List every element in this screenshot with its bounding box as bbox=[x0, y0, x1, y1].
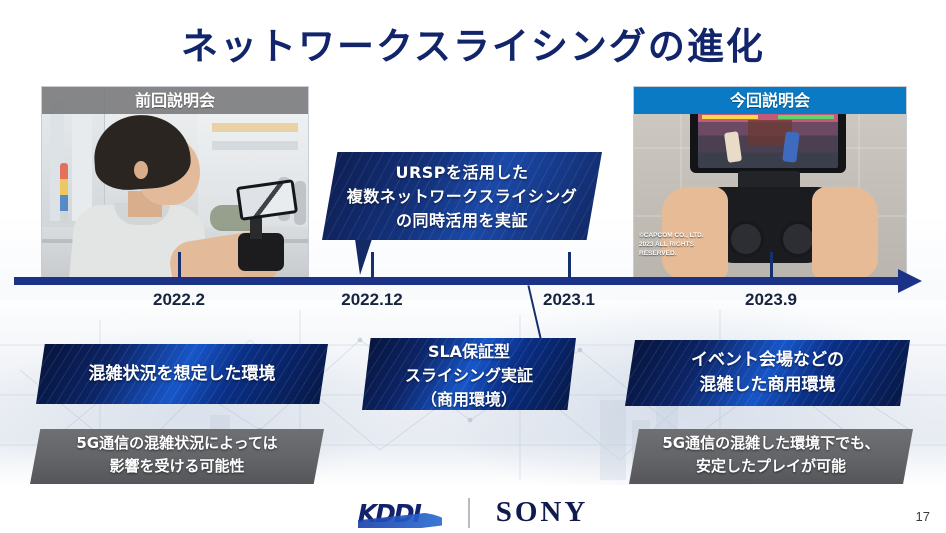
blue-banner-1-line-1: 混雑状況を想定した環境 bbox=[36, 344, 328, 404]
blue-banner-2-line-3: （商用環境） bbox=[362, 388, 576, 412]
slide-canvas: ネットワークスライシングの進化 前回説明会 bbox=[0, 0, 946, 533]
fighter-character-1 bbox=[724, 131, 742, 163]
gray-banner-result-note: 5G通信の混雑した環境下でも、 安定したプレイが可能 bbox=[629, 429, 913, 484]
callout-ursp-demo: URSPを活用した 複数ネットワークスライシング の同時活用を実証 bbox=[322, 152, 602, 240]
timeline-label-0: 2022.2 bbox=[153, 290, 205, 310]
timeline-label-1: 2022.12 bbox=[341, 290, 402, 310]
photo-right-caption: 今回説明会 bbox=[634, 87, 906, 114]
gray-banner-risk-note: 5G通信の混雑状況によっては 影響を受ける可能性 bbox=[30, 429, 324, 484]
timeline-tick bbox=[371, 252, 374, 278]
timeline-tick bbox=[568, 252, 571, 278]
health-bar-p2 bbox=[778, 115, 834, 119]
page-title: ネットワークスライシングの進化 bbox=[0, 16, 946, 70]
blue-banner-congestion-assumed: 混雑状況を想定した環境 bbox=[36, 344, 328, 404]
analog-stick-left bbox=[728, 221, 764, 257]
timeline-tick bbox=[178, 252, 181, 278]
callout-line-3: の同時活用を実証 bbox=[322, 209, 602, 233]
blue-banner-2-line-2: スライシング実証 bbox=[362, 364, 576, 388]
gray-banner-2-line-1: 5G通信の混雑した環境下でも、 bbox=[629, 432, 913, 455]
photo-previous-briefing: 前回説明会 bbox=[41, 86, 309, 284]
footer-logos: KDDI SONY bbox=[0, 496, 946, 529]
game-screen bbox=[698, 112, 838, 168]
hand-right bbox=[812, 187, 878, 279]
analog-stick-right bbox=[780, 221, 816, 257]
logo-divider bbox=[468, 498, 470, 528]
blue-banner-2-text: SLA保証型 スライシング実証 （商用環境） bbox=[362, 338, 576, 412]
timeline-arrow-icon bbox=[898, 269, 922, 293]
gray-banner-1-line-2: 影響を受ける可能性 bbox=[30, 455, 324, 478]
callout-text: URSPを活用した 複数ネットワークスライシング の同時活用を実証 bbox=[322, 152, 602, 233]
sony-logo-text: SONY bbox=[496, 496, 589, 529]
blue-banner-2-line-1: SLA保証型 bbox=[362, 340, 576, 364]
blue-banner-sla-validation: SLA保証型 スライシング実証 （商用環境） bbox=[362, 338, 576, 410]
fighter-character-2 bbox=[782, 131, 800, 162]
callout-pointer-tail bbox=[355, 239, 372, 275]
photo-left-caption: 前回説明会 bbox=[42, 87, 308, 114]
timeline-label-2: 2023.1 bbox=[543, 290, 595, 310]
timeline-label-3: 2023.9 bbox=[745, 290, 797, 310]
page-number: 17 bbox=[916, 509, 930, 524]
copyright-notice: ©CAPCOM CO., LTD. 2023 ALL RIGHTS RESERV… bbox=[639, 231, 704, 258]
blue-banner-3-line-1: イベント会場などの bbox=[625, 348, 910, 373]
health-bar-p1 bbox=[702, 115, 758, 119]
person-ear bbox=[134, 161, 148, 179]
gray-banner-1-line-1: 5G通信の混雑状況によっては bbox=[30, 432, 324, 455]
blue-banner-event-venue: イベント会場などの 混雑した商用環境 bbox=[625, 340, 910, 406]
blue-banner-3-line-2: 混雑した商用環境 bbox=[625, 373, 910, 398]
gray-banner-2-line-2: 安定したプレイが可能 bbox=[629, 455, 913, 478]
callout-line-2: 複数ネットワークスライシング bbox=[322, 185, 602, 209]
timeline-tick bbox=[770, 252, 773, 278]
photo-left-scene bbox=[42, 87, 308, 283]
kddi-logo: KDDI bbox=[358, 498, 442, 528]
blue-banner-3-text: イベント会場などの 混雑した商用環境 bbox=[625, 340, 910, 398]
callout-line-1: URSPを活用した bbox=[322, 161, 602, 185]
street-pole bbox=[60, 163, 68, 223]
timeline-axis bbox=[14, 277, 900, 285]
